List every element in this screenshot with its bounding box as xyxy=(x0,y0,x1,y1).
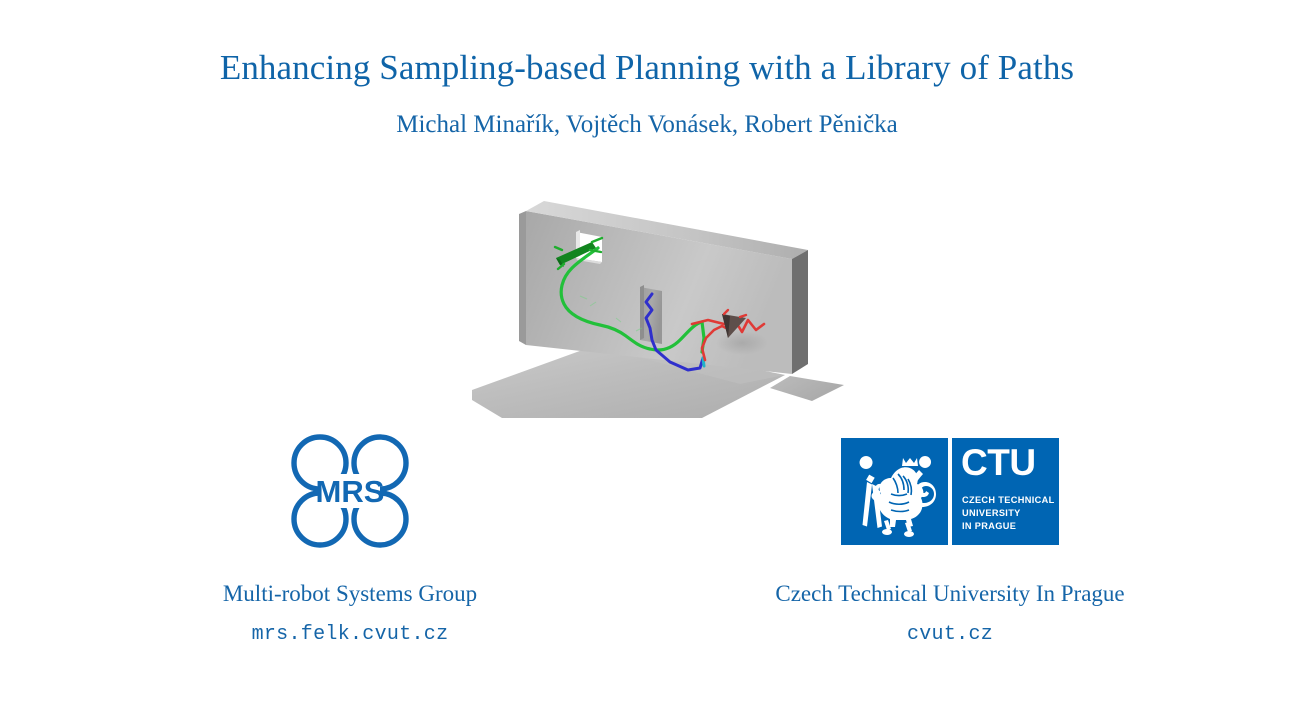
ctu-subtitle-line-3: IN PRAGUE xyxy=(962,520,1055,533)
ctu-subtitle-line-2: UNIVERSITY xyxy=(962,507,1055,520)
ctu-lion-icon xyxy=(841,438,948,545)
org-block-ctu: CTU CZECH TECHNICAL UNIVERSITY IN PRAGUE… xyxy=(700,430,1200,646)
ctu-lion-emblem xyxy=(841,438,948,545)
ctu-subtitle-line-1: CZECH TECHNICAL xyxy=(962,494,1055,507)
mrs-logo: MRS xyxy=(100,430,600,552)
page-title: Enhancing Sampling-based Planning with a… xyxy=(0,48,1294,88)
org-name-mrs: Multi-robot Systems Group xyxy=(100,580,600,609)
ctu-subtitle: CZECH TECHNICAL UNIVERSITY IN PRAGUE xyxy=(962,494,1055,533)
org-block-mrs: MRS Multi-robot Systems Group mrs.felk.c… xyxy=(100,430,600,646)
org-url-mrs[interactable]: mrs.felk.cvut.cz xyxy=(100,623,600,646)
scene-figure-canvas xyxy=(440,188,850,418)
mrs-logo-text: MRS xyxy=(316,474,385,509)
org-url-ctu[interactable]: cvut.cz xyxy=(700,623,1200,646)
ctu-wordmark-box: CTU CZECH TECHNICAL UNIVERSITY IN PRAGUE xyxy=(952,438,1059,545)
scene-figure xyxy=(440,188,850,418)
mrs-logo-mark: MRS xyxy=(287,430,413,552)
ctu-logo: CTU CZECH TECHNICAL UNIVERSITY IN PRAGUE xyxy=(700,430,1200,552)
floor-right-strip xyxy=(770,376,844,401)
logo-row: MRS Multi-robot Systems Group mrs.felk.c… xyxy=(0,430,1294,690)
title-slide: Enhancing Sampling-based Planning with a… xyxy=(0,0,1294,708)
org-name-ctu: Czech Technical University In Prague xyxy=(700,580,1200,609)
ctu-wordmark: CTU xyxy=(961,444,1036,481)
goal-shadow xyxy=(716,331,768,355)
title-block: Enhancing Sampling-based Planning with a… xyxy=(0,48,1294,140)
author-list: Michal Minařík, Vojtěch Vonásek, Robert … xyxy=(0,110,1294,140)
